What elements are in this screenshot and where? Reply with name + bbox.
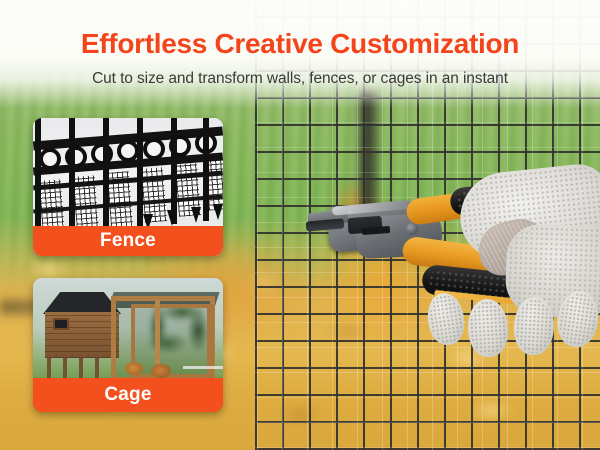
fence-picket-6 <box>203 118 209 221</box>
fence-image: Fence <box>33 118 223 256</box>
fence-ring-3 <box>91 143 113 165</box>
cage-post-a <box>111 296 116 388</box>
cage-image: Cage <box>33 278 223 412</box>
fence-spike-3 <box>191 207 201 223</box>
cage-card-label: Cage <box>33 378 223 412</box>
fence-spike-2 <box>167 210 177 226</box>
fence-ring-1 <box>39 148 61 170</box>
coop-legs <box>47 358 117 380</box>
fence-ring-5 <box>143 138 165 160</box>
cage-chicken-2 <box>151 364 171 378</box>
page-subtitle: Cut to size and transform walls, fences,… <box>0 70 600 88</box>
pliers-pivot-bolt <box>406 223 418 235</box>
fence-picket-3 <box>103 118 109 231</box>
feature-card-fence[interactable]: Fence <box>33 118 223 256</box>
coop-window <box>53 318 69 330</box>
headline-block: Effortless Creative Customization Cut to… <box>0 0 600 88</box>
fence-picket-2 <box>69 118 75 234</box>
fence-card-label: Fence <box>33 226 223 256</box>
cage-chicken-1 <box>125 362 143 375</box>
cage-background-rail <box>183 366 223 369</box>
feature-card-cage[interactable]: Cage <box>33 278 223 412</box>
fence-picket-5 <box>171 118 177 224</box>
fence-spike-4 <box>213 204 223 220</box>
page-title: Effortless Creative Customization <box>0 30 600 58</box>
fence-ring-4 <box>117 140 139 162</box>
promo-banner: Effortless Creative Customization Cut to… <box>0 0 600 450</box>
cage-post-c <box>209 304 214 384</box>
pliers-and-glove <box>310 175 600 385</box>
fence-picket-1 <box>35 118 41 238</box>
fence-picket-4 <box>137 118 143 228</box>
